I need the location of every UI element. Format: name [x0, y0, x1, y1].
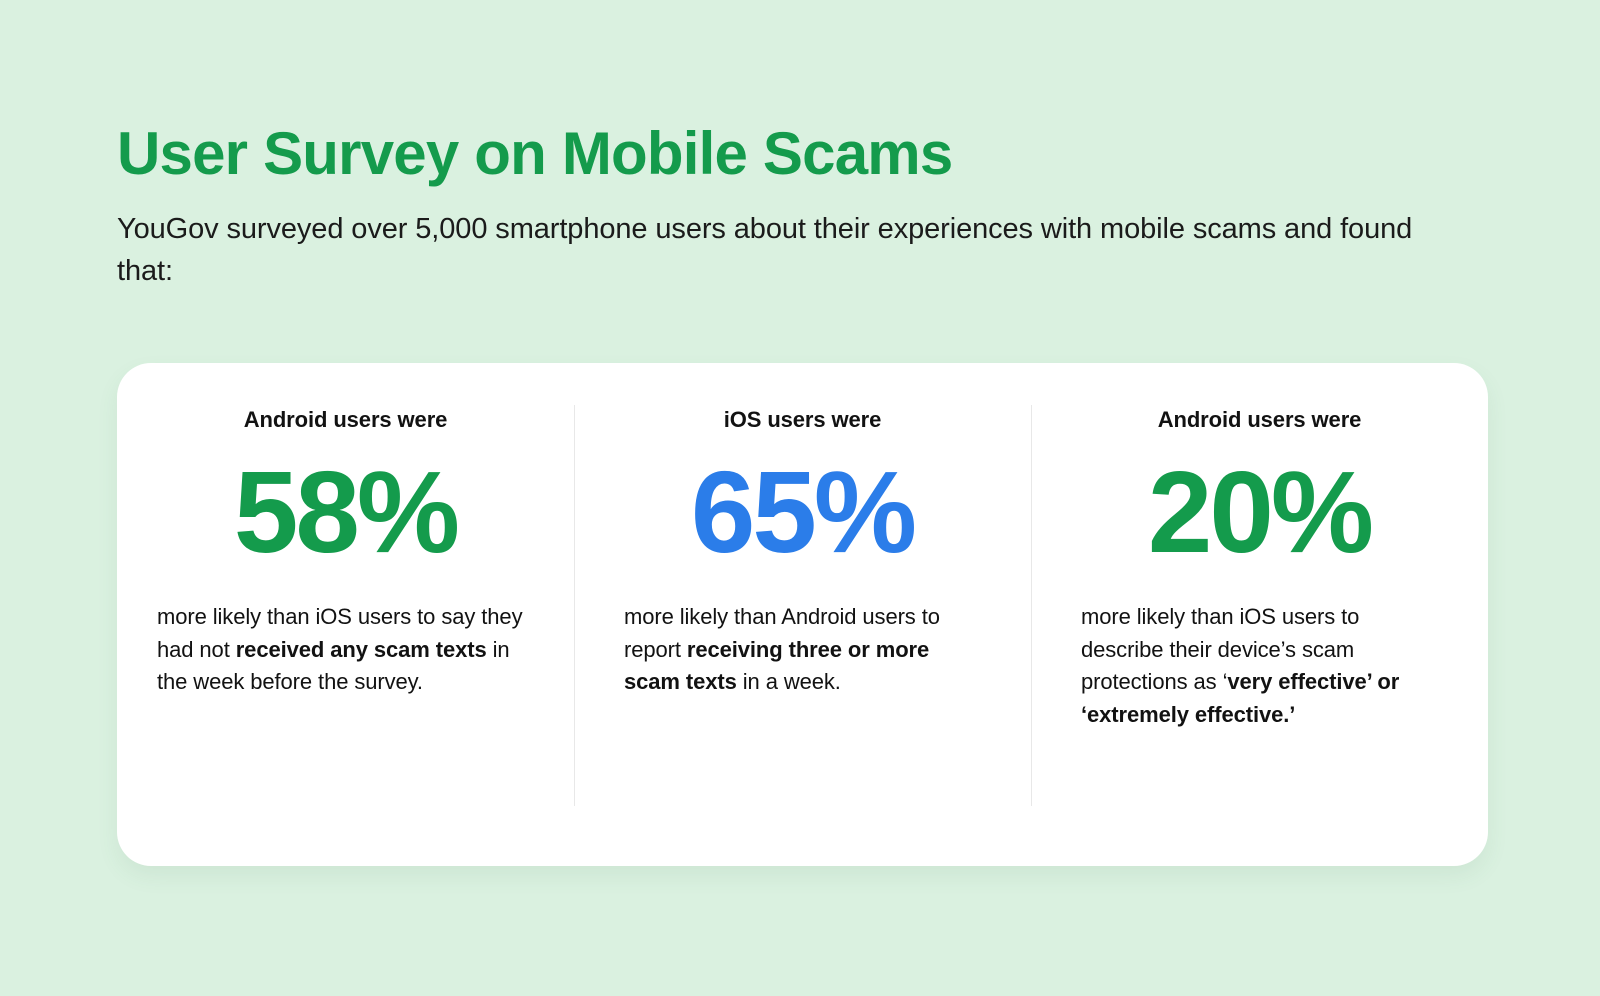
- stat-heading-3: Android users were: [1067, 405, 1452, 435]
- header: User Survey on Mobile Scams YouGov surve…: [117, 118, 1477, 292]
- stat-column-2: iOS users were 65% more likely than Andr…: [574, 363, 1031, 866]
- stat-heading-1: Android users were: [153, 405, 538, 435]
- page-subtitle: YouGov surveyed over 5,000 smartphone us…: [117, 190, 1462, 292]
- stat-figure-2: 65%: [610, 435, 995, 575]
- stat-figure-3: 20%: [1067, 435, 1452, 575]
- stat-body-3: more likely than iOS users to describe t…: [1067, 575, 1452, 731]
- stat-heading-2: iOS users were: [610, 405, 995, 435]
- stats-card: Android users were 58% more likely than …: [117, 363, 1488, 866]
- stat-column-3: Android users were 20% more likely than …: [1031, 363, 1488, 866]
- stat-body-1: more likely than iOS users to say they h…: [153, 575, 538, 699]
- infographic-page: User Survey on Mobile Scams YouGov surve…: [0, 0, 1600, 996]
- stat-column-1: Android users were 58% more likely than …: [117, 363, 574, 866]
- page-title: User Survey on Mobile Scams: [117, 118, 1477, 190]
- stat-body-2: more likely than Android users to report…: [610, 575, 995, 699]
- stat-figure-1: 58%: [153, 435, 538, 575]
